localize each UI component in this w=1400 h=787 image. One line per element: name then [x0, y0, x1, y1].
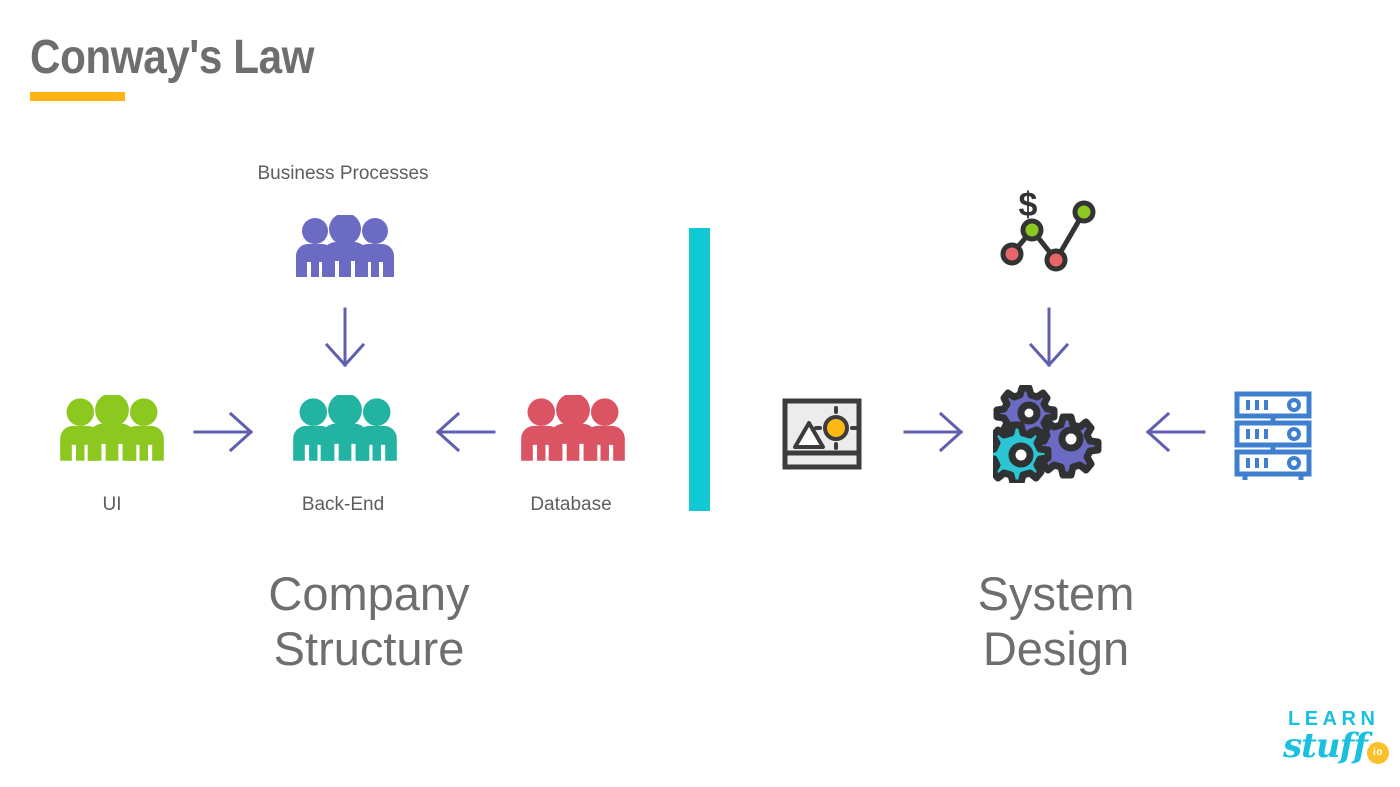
people-group-icon — [518, 395, 628, 461]
company-structure-heading: Company Structure — [268, 566, 469, 677]
arrow-right-icon — [903, 408, 965, 456]
database-team-label: Database — [530, 494, 611, 516]
svg-text:$: $ — [1019, 186, 1038, 224]
gears-icon — [993, 385, 1103, 483]
slide-canvas: Conway's Law Business Processes — [0, 0, 1400, 787]
vertical-divider — [689, 228, 710, 511]
server-rack-icon — [1231, 388, 1315, 480]
logo-stuff-text: stuff — [1283, 726, 1367, 766]
learn-stuff-logo[interactable]: LEARN stuff io — [1283, 706, 1393, 778]
business-processes-label: Business Processes — [257, 163, 428, 185]
arrow-left-icon — [1144, 408, 1206, 456]
logo-io-badge: io — [1367, 742, 1389, 764]
arrow-right-icon — [193, 408, 255, 456]
arrow-down-icon — [321, 307, 369, 369]
system-design-heading: System Design — [978, 566, 1135, 677]
people-group-icon — [57, 395, 167, 461]
page-title: Conway's Law — [30, 30, 314, 85]
arrow-down-icon — [1025, 307, 1073, 369]
people-group-icon — [293, 215, 397, 277]
backend-team-label: Back-End — [302, 494, 384, 516]
line-chart-dollar-icon: $ — [996, 182, 1104, 282]
people-group-icon — [290, 395, 400, 461]
arrow-left-icon — [434, 408, 496, 456]
ui-team-label: UI — [103, 494, 122, 516]
title-underline-accent — [30, 92, 125, 101]
image-picture-icon — [781, 397, 863, 471]
